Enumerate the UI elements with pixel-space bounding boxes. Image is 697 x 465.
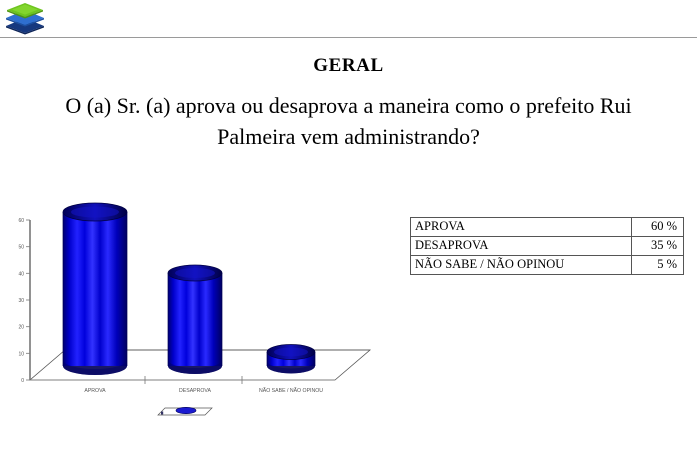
question-text: O (a) Sr. (a) aprova ou desaprova a mane… [20, 90, 677, 152]
table-row: APROVA 60 % [411, 218, 684, 237]
y-tick-label: 30 [18, 298, 24, 304]
table-row: NÃO SABE / NÃO OPINOU 5 % [411, 256, 684, 275]
table-cell-label: DESAPROVA [411, 237, 632, 256]
table-cell-value: 60 % [632, 218, 684, 237]
table-cell-value: 35 % [632, 237, 684, 256]
chart-canvas: 0 10 20 30 40 50 60 [10, 200, 400, 425]
stacked-layers-logo-icon [4, 2, 46, 35]
results-table: APROVA 60 % DESAPROVA 35 % NÃO SABE / NÃ… [410, 217, 684, 275]
bar-aprova [63, 203, 127, 375]
bar-desaprova [168, 265, 222, 374]
x-tick-label: APROVA [84, 388, 106, 394]
x-tick-label: NÃO SABE / NÃO OPINOU [259, 387, 323, 394]
x-tick-label: DESAPROVA [179, 388, 211, 394]
table-cell-value: 5 % [632, 256, 684, 275]
header-divider [0, 37, 697, 38]
y-tick-label: 10 [18, 351, 24, 357]
question-line-2: Palmeira vem administrando? [20, 121, 677, 152]
y-axis-tick-labels: 0 10 20 30 40 50 60 [18, 218, 24, 384]
question-line-1: O (a) Sr. (a) aprova ou desaprova a mane… [20, 90, 677, 121]
y-axis: 0 10 20 30 40 50 60 [18, 218, 30, 384]
page-title: GERAL [0, 55, 697, 77]
slide-header [0, 0, 697, 38]
y-tick-label: 60 [18, 218, 24, 224]
y-tick-label: 50 [18, 245, 24, 251]
y-tick-label: 20 [18, 325, 24, 331]
y-tick-label: 40 [18, 271, 24, 277]
x-axis-tick-labels: APROVA DESAPROVA NÃO SABE / NÃO OPINOU [84, 387, 323, 394]
bar-nao-sabe [267, 345, 315, 374]
bar-chart: 0 10 20 30 40 50 60 [10, 200, 400, 425]
table-row: DESAPROVA 35 % [411, 237, 684, 256]
table-cell-label: NÃO SABE / NÃO OPINOU [411, 256, 632, 275]
series-legend-key [158, 407, 212, 415]
y-tick-label: 0 [21, 378, 24, 384]
table-cell-label: APROVA [411, 218, 632, 237]
